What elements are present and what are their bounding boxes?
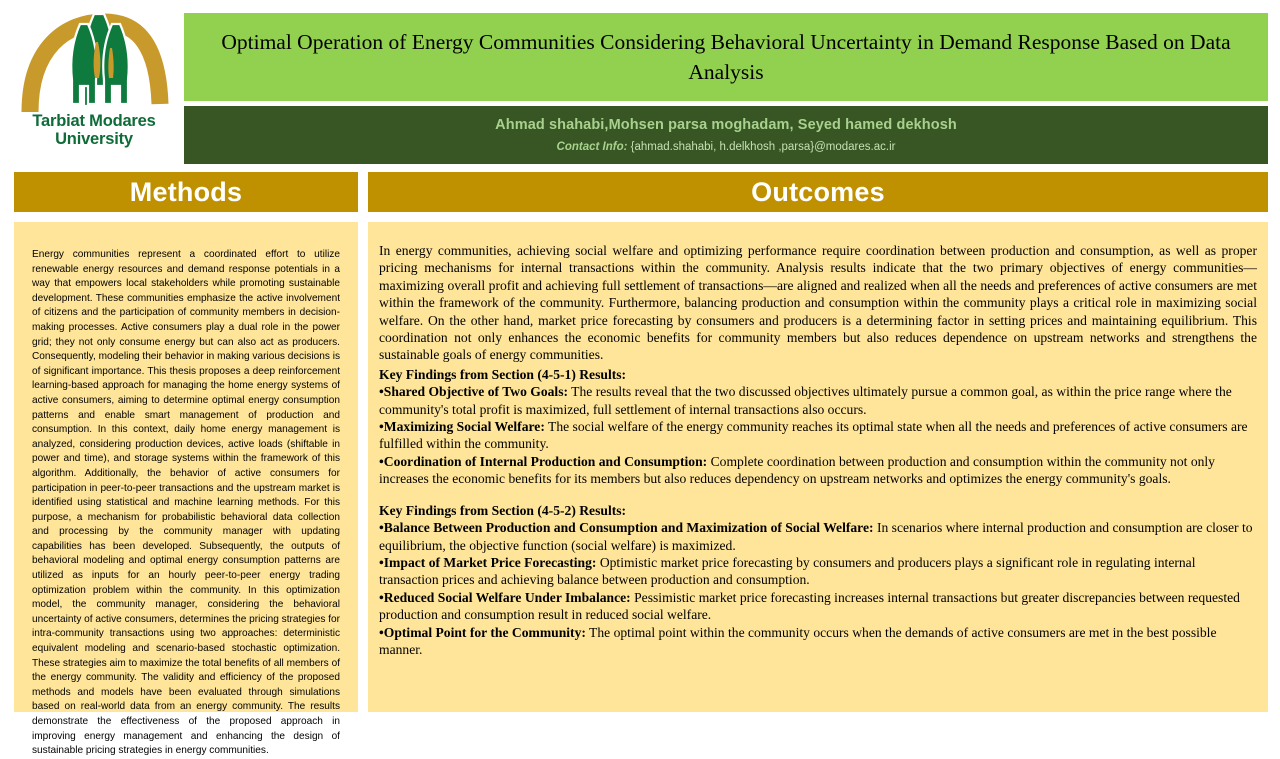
methods-heading: Methods (130, 177, 242, 207)
finding-item: •Maximizing Social Welfare: The social w… (379, 418, 1257, 453)
finding-lead: Impact of Market Price Forecasting: (384, 555, 597, 570)
outcomes-intro-paragraph: In energy communities, achieving social … (379, 242, 1257, 364)
contact-info-value: {ahmad.shahabi, h.delkhosh ,parsa}@modar… (631, 141, 896, 153)
methods-body-text: Energy communities represent a coordinat… (32, 248, 340, 759)
authors-list: Ahmad shahabi,Mohsen parsa moghadam, Sey… (495, 116, 957, 134)
outcomes-heading: Outcomes (751, 177, 885, 207)
finding-lead: Reduced Social Welfare Under Imbalance: (384, 590, 631, 605)
finding-item: •Optimal Point for the Community: The op… (379, 624, 1257, 659)
finding-lead: Balance Between Production and Consumpti… (384, 520, 874, 535)
contact-info: Contact Info: {ahmad.shahabi, h.delkhosh… (557, 140, 896, 154)
finding-lead: Coordination of Internal Production and … (384, 454, 707, 469)
outcomes-section-header: Outcomes (368, 172, 1268, 212)
finding-item: •Reduced Social Welfare Under Imbalance:… (379, 589, 1257, 624)
poster-title: Optimal Operation of Energy Communities … (202, 27, 1250, 87)
contact-info-label: Contact Info: (557, 141, 628, 153)
finding-lead: Shared Objective of Two Goals: (384, 384, 568, 399)
outcomes-body-text: In energy communities, achieving social … (379, 242, 1257, 658)
findings-group1-list: •Shared Objective of Two Goals: The resu… (379, 383, 1257, 487)
university-logo: Tarbiat Modares University (8, 4, 180, 164)
outcomes-panel: In energy communities, achieving social … (368, 222, 1268, 712)
finding-lead: Optimal Point for the Community: (384, 625, 586, 640)
finding-item: •Coordination of Internal Production and… (379, 453, 1257, 488)
findings-group2-list: •Balance Between Production and Consumpt… (379, 519, 1257, 658)
poster-header: Tarbiat Modares University Optimal Opera… (0, 0, 1280, 168)
finding-item: •Impact of Market Price Forecasting: Opt… (379, 554, 1257, 589)
authors-banner: Ahmad shahabi,Mohsen parsa moghadam, Sey… (184, 106, 1268, 164)
finding-lead: Maximizing Social Welfare: (384, 419, 545, 434)
title-banner: Optimal Operation of Energy Communities … (184, 13, 1268, 101)
finding-item: •Balance Between Production and Consumpt… (379, 519, 1257, 554)
logo-text-line1: Tarbiat Modares (32, 112, 155, 130)
tarbiat-modares-logo-icon (8, 8, 180, 116)
logo-text: Tarbiat Modares University (8, 112, 180, 148)
findings-group1-heading: Key Findings from Section (4-5-1) Result… (379, 366, 1257, 383)
methods-section-header: Methods (14, 172, 358, 212)
findings-spacer (379, 488, 1257, 502)
logo-text-line2: University (8, 130, 180, 148)
findings-group2-heading: Key Findings from Section (4-5-2) Result… (379, 502, 1257, 519)
finding-item: •Shared Objective of Two Goals: The resu… (379, 383, 1257, 418)
methods-panel: Energy communities represent a coordinat… (14, 222, 358, 712)
